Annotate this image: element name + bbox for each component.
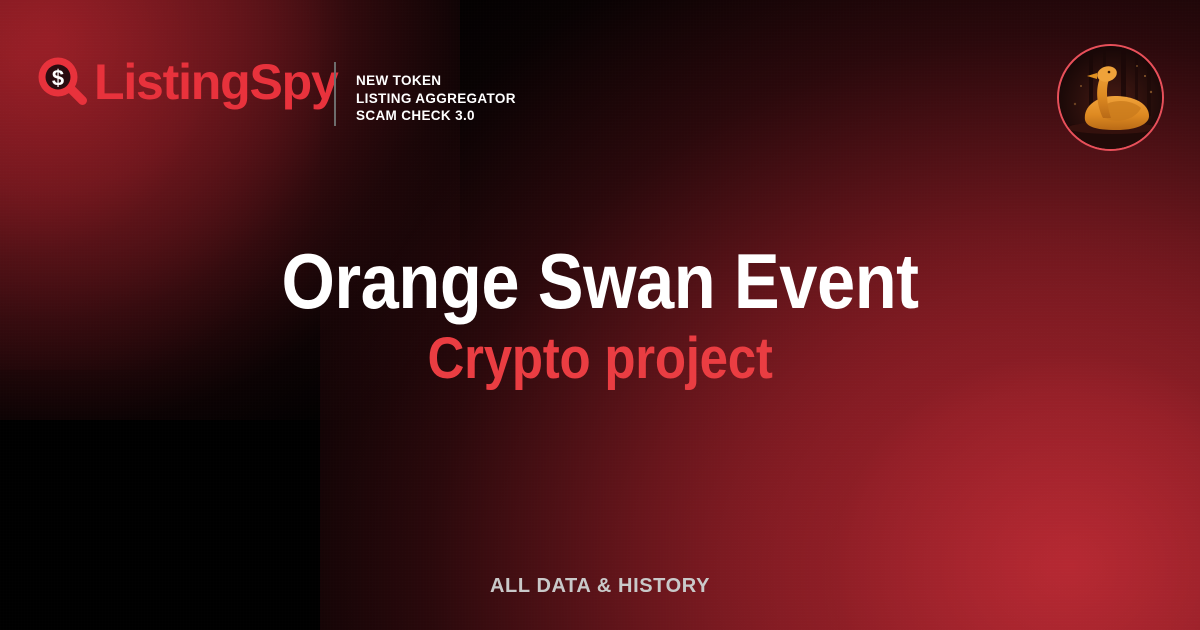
brand-tagline: NEW TOKEN LISTING AGGREGATOR SCAM CHECK … xyxy=(356,72,516,125)
brand-logo[interactable]: $ ListingSpy xyxy=(36,55,338,107)
banner-header: $ ListingSpy NEW TOKEN LISTING AGGREGATO… xyxy=(0,0,1200,170)
project-avatar[interactable] xyxy=(1057,44,1164,151)
header-divider xyxy=(334,62,336,126)
svg-text:$: $ xyxy=(52,66,64,91)
magnifier-dollar-icon: $ xyxy=(36,55,88,107)
orange-swan-avatar xyxy=(1059,46,1162,149)
tagline-line-3: SCAM CHECK 3.0 xyxy=(356,107,516,125)
tagline-line-2: LISTING AGGREGATOR xyxy=(356,90,516,108)
promo-banner: $ ListingSpy NEW TOKEN LISTING AGGREGATO… xyxy=(0,0,1200,630)
footer-caption: ALL DATA & HISTORY xyxy=(0,575,1200,598)
page-title: Orange Swan Event xyxy=(281,242,918,322)
brand-name: ListingSpy xyxy=(94,57,338,107)
page-subtitle: Crypto project xyxy=(427,329,772,388)
tagline-line-1: NEW TOKEN xyxy=(356,72,516,90)
